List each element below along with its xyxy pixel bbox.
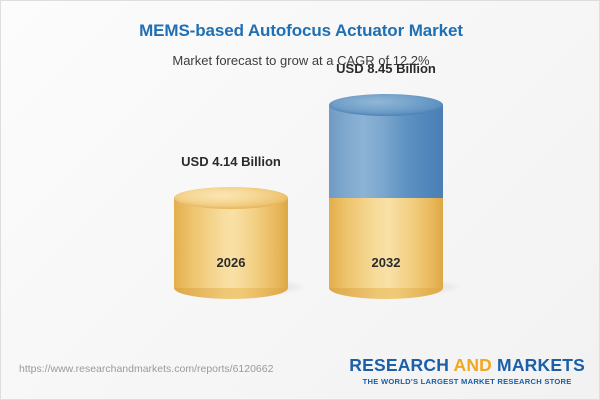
logo-text-and: AND	[453, 355, 492, 375]
cylinder-body-base-2032	[329, 198, 443, 288]
cylinder-top-cap-2032	[329, 94, 443, 116]
research-and-markets-logo[interactable]: RESEARCH AND MARKETS THE WORLD'S LARGEST…	[349, 355, 585, 386]
chart-subtitle: Market forecast to grow at a CAGR of 12.…	[1, 53, 600, 68]
x-axis-label-2032: 2032	[372, 255, 401, 270]
cylinder-top-cap-2026	[174, 187, 288, 209]
chart-plot-area: USD 4.14 Billion 2026 USD 8.45 Billion	[1, 76, 600, 346]
cylinder-body-2026	[174, 198, 288, 288]
logo-text-markets: MARKETS	[492, 355, 585, 375]
bar-value-label-2032: USD 8.45 Billion	[336, 61, 436, 76]
source-url-link[interactable]: https://www.researchandmarkets.com/repor…	[19, 363, 273, 375]
bar-value-label-2026: USD 4.14 Billion	[181, 154, 281, 169]
page-title: MEMS-based Autofocus Actuator Market	[1, 21, 600, 41]
logo-wordmark: RESEARCH AND MARKETS	[349, 355, 585, 376]
x-axis-label-2026: 2026	[217, 255, 246, 270]
chart-card: MEMS-based Autofocus Actuator Market Mar…	[0, 0, 600, 400]
footer: https://www.researchandmarkets.com/repor…	[1, 347, 600, 399]
logo-text-research: RESEARCH	[349, 355, 453, 375]
cylinder-body-growth-2032	[329, 105, 443, 198]
logo-tagline: THE WORLD'S LARGEST MARKET RESEARCH STOR…	[349, 377, 585, 386]
